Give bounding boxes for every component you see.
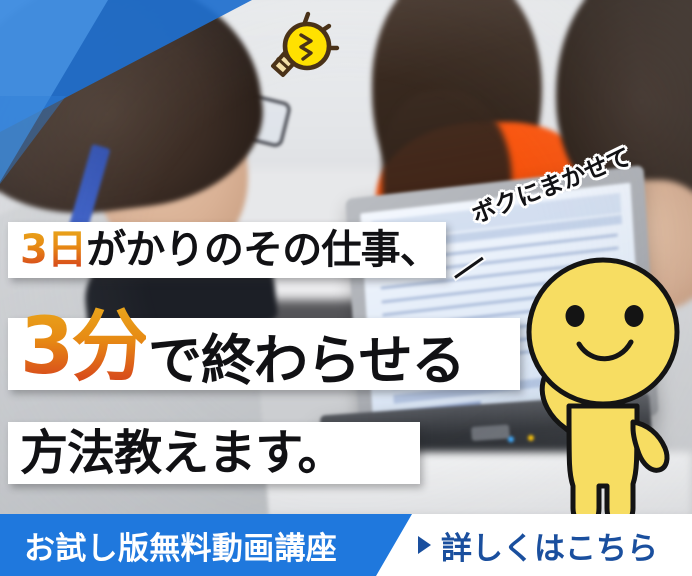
mascot-head bbox=[529, 260, 677, 404]
headline-highlight-3days: 3日 bbox=[20, 227, 86, 273]
headline-line-1: 3日がかりのその仕事、 bbox=[8, 230, 439, 270]
lightbulb-icon bbox=[253, 4, 349, 86]
promo-banner: ボクにまかせて 3日がかりのその仕事、 3分で終わらせる bbox=[0, 0, 692, 576]
headline-line-2-rest: で終わらせる bbox=[148, 329, 464, 392]
mascot-left-eye bbox=[566, 305, 585, 327]
play-triangle-icon bbox=[418, 536, 431, 554]
mascot-right-eye bbox=[625, 305, 644, 327]
headline-band-1: 3日がかりのその仕事、 bbox=[8, 222, 446, 278]
headline-line-2: 3分で終わらせる bbox=[8, 320, 465, 388]
cta-primary-label: お試し版無料動画講座 bbox=[0, 523, 337, 568]
mascot-body-and-legs bbox=[569, 406, 637, 526]
headline-band-3: 方法教えます。 bbox=[8, 422, 420, 484]
cta-detail-label: 詳しくはこちら bbox=[441, 523, 658, 568]
cta-bar[interactable]: お試し版無料動画講座 詳しくはこちら bbox=[0, 514, 692, 576]
corner-triangle-accent bbox=[0, 96, 66, 184]
cta-detail-link[interactable]: 詳しくはこちら bbox=[418, 514, 658, 576]
headline-line-3: 方法教えます。 bbox=[8, 429, 344, 477]
corner-decoration bbox=[0, 0, 260, 200]
cta-primary-button[interactable]: お試し版無料動画講座 bbox=[0, 514, 412, 576]
headline-highlight-3minutes: 3分 bbox=[20, 302, 146, 392]
headline-line-1-rest: がかりのその仕事、 bbox=[86, 227, 439, 273]
headline-band-2: 3分で終わらせる bbox=[8, 318, 520, 390]
yellow-mascot-character bbox=[495, 236, 692, 536]
